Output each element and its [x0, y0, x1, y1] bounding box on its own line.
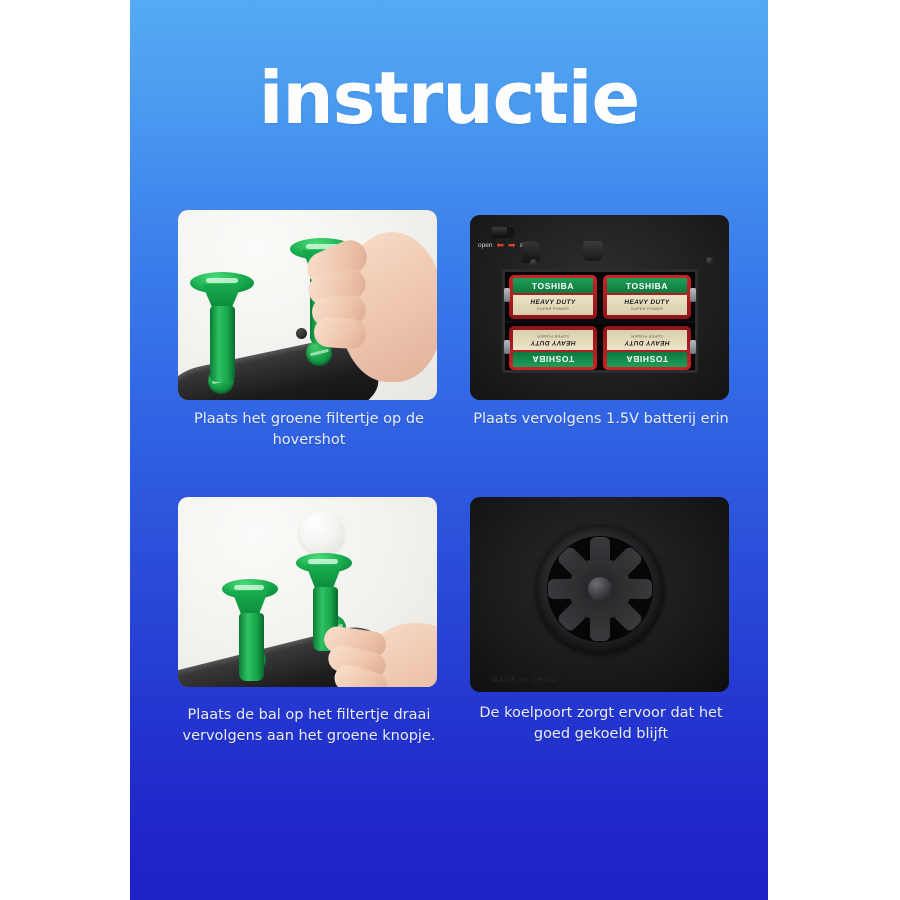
step-3-image: [178, 497, 437, 687]
battery-tray: TOSHIBA HEAVY DUTY SUPER POWER TOSHIBA H…: [502, 269, 698, 373]
battery-type: HEAVY DUTY: [624, 339, 669, 346]
battery-brand-band: TOSHIBA: [513, 278, 593, 293]
step-4-caption: De koelpoort zorgt ervoor dat het goed g…: [462, 703, 740, 745]
ball-on-filter-photo: [178, 497, 437, 687]
cover-tab-icon: [583, 241, 603, 261]
battery-brand: TOSHIBA: [532, 281, 574, 291]
battery-type-band: HEAVY DUTY SUPER POWER: [513, 295, 593, 315]
battery-subtype: SUPER POWER: [537, 306, 569, 311]
instruction-poster: instructie: [0, 0, 900, 900]
arrow-right-icon: ➡: [508, 241, 516, 250]
lock-switch: [492, 227, 514, 238]
hand-thumb: [313, 316, 367, 350]
battery-type: HEAVY DUTY: [624, 299, 669, 306]
battery-cell: TOSHIBA HEAVY DUTY SUPER POWER: [509, 326, 597, 370]
green-filter-photo: [178, 210, 437, 400]
practice-ball: [300, 511, 344, 555]
battery-type: HEAVY DUTY: [530, 299, 575, 306]
battery-type: HEAVY DUTY: [530, 339, 575, 346]
battery-terminal: [504, 288, 510, 302]
step-4-image: MADE IN CHINA: [470, 497, 729, 692]
step-1-image: [178, 210, 437, 400]
arrow-left-icon: ⬅: [496, 241, 504, 250]
battery-brand: TOSHIBA: [626, 355, 668, 365]
battery-terminal: [690, 340, 696, 354]
battery-brand: TOSHIBA: [626, 281, 668, 291]
battery-subtype: SUPER POWER: [631, 334, 663, 339]
step-3-caption: Plaats de bal op het filtertje draai ver…: [170, 705, 448, 747]
pivot-screw-icon: [296, 328, 307, 339]
step-2-caption: Plaats vervolgens 1.5V batterij erin: [462, 409, 740, 430]
battery-brand-band: TOSHIBA: [607, 352, 687, 367]
vent-hub: [588, 577, 612, 601]
cooling-vent-photo: MADE IN CHINA: [470, 497, 729, 692]
battery-type-band: HEAVY DUTY SUPER POWER: [607, 330, 687, 350]
screw-icon: [706, 257, 713, 264]
battery-type-band: HEAVY DUTY SUPER POWER: [607, 295, 687, 315]
screw-icon: [530, 259, 537, 266]
step-2-image: open ⬅ ➡ shut TOSHIBA HEAVY DUTY SUPER P…: [470, 215, 729, 400]
battery-type-band: HEAVY DUTY SUPER POWER: [513, 330, 593, 350]
open-label: open: [478, 242, 492, 249]
battery-cell: TOSHIBA HEAVY DUTY SUPER POWER: [603, 326, 691, 370]
battery-cell: TOSHIBA HEAVY DUTY SUPER POWER: [509, 275, 597, 319]
vent-marking: MADE IN CHINA: [492, 677, 558, 684]
page-title: instructie: [130, 62, 768, 134]
filter-slot: [234, 585, 264, 590]
battery-terminal: [690, 288, 696, 302]
battery-brand: TOSHIBA: [532, 355, 574, 365]
battery-subtype: SUPER POWER: [537, 334, 569, 339]
cooling-vent-icon: [536, 525, 664, 653]
filter-stem: [210, 306, 235, 382]
battery-compartment-photo: open ⬅ ➡ shut TOSHIBA HEAVY DUTY SUPER P…: [470, 215, 729, 400]
step-1-caption: Plaats het groene filtertje op de hovers…: [170, 409, 448, 451]
battery-terminal: [504, 340, 510, 354]
filter-stem: [239, 613, 264, 681]
battery-cell: TOSHIBA HEAVY DUTY SUPER POWER: [603, 275, 691, 319]
battery-brand-band: TOSHIBA: [513, 352, 593, 367]
battery-brand-band: TOSHIBA: [607, 278, 687, 293]
battery-subtype: SUPER POWER: [631, 306, 663, 311]
filter-slot: [308, 559, 338, 564]
filter-slot: [206, 278, 238, 283]
